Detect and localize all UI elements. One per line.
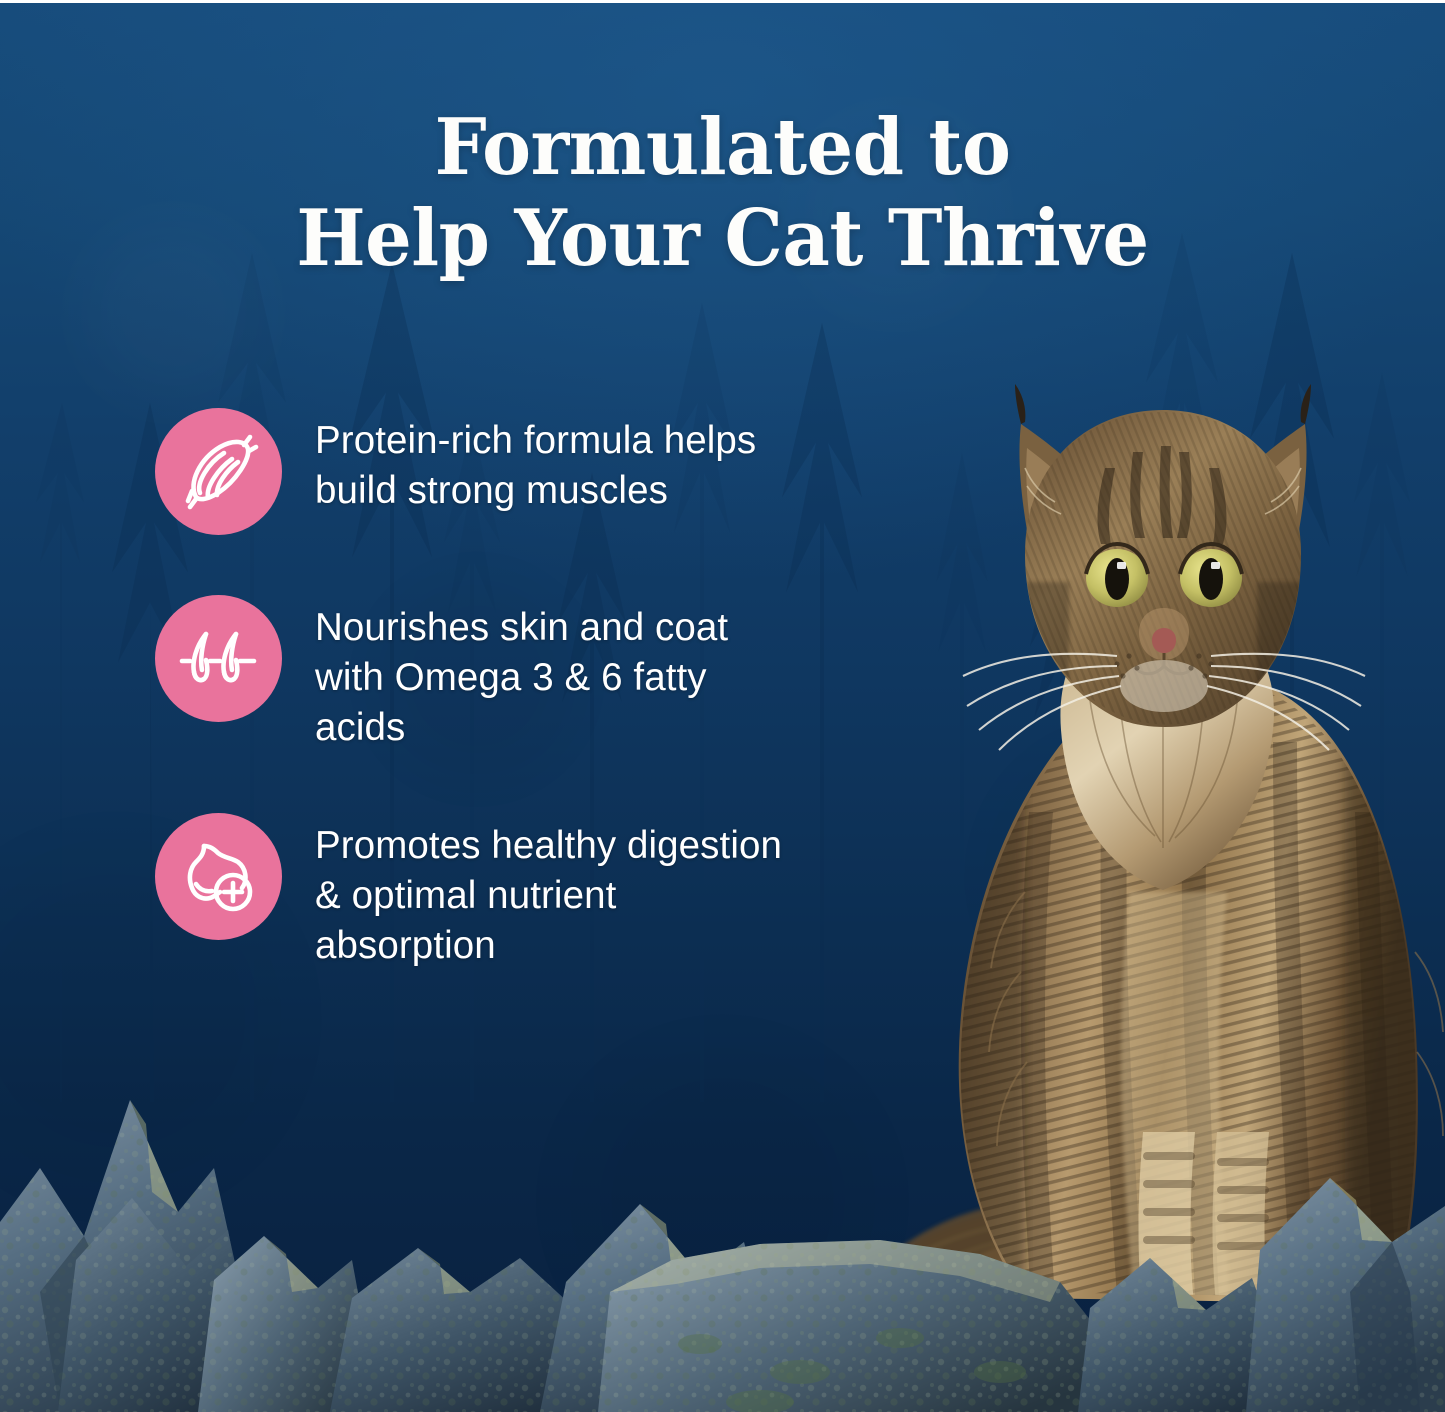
stomach-plus-icon bbox=[155, 813, 282, 940]
benefit-text-digestion: Promotes healthy digestion & optimal nut… bbox=[315, 813, 795, 971]
rock-cluster-right bbox=[1078, 1178, 1445, 1412]
benefit-text-skin-coat: Nourishes skin and coat with Omega 3 & 6… bbox=[315, 595, 795, 753]
benefit-text-protein: Protein-rich formula helps build strong … bbox=[315, 408, 795, 516]
hair-follicle-icon bbox=[155, 595, 282, 722]
benefit-item-protein: Protein-rich formula helps build strong … bbox=[155, 408, 795, 535]
benefit-item-skin-coat: Nourishes skin and coat with Omega 3 & 6… bbox=[155, 595, 795, 753]
benefit-item-digestion: Promotes healthy digestion & optimal nut… bbox=[155, 813, 795, 971]
headline-line-1: Formulated to bbox=[435, 102, 1011, 193]
headline-line-2: Help Your Cat Thrive bbox=[109, 194, 1336, 284]
rock-slab-main bbox=[598, 1240, 1104, 1412]
page-title: Formulated to Help Your Cat Thrive bbox=[43, 103, 1401, 284]
rock-cluster-left bbox=[0, 1100, 380, 1412]
muscle-fiber-icon bbox=[155, 408, 282, 535]
benefits-list: Protein-rich formula helps build strong … bbox=[155, 408, 795, 971]
foreground-rocks bbox=[0, 992, 1445, 1412]
cat-head bbox=[963, 384, 1365, 750]
product-benefits-banner: Formulated to Help Your Cat Thrive bbox=[0, 0, 1445, 1412]
